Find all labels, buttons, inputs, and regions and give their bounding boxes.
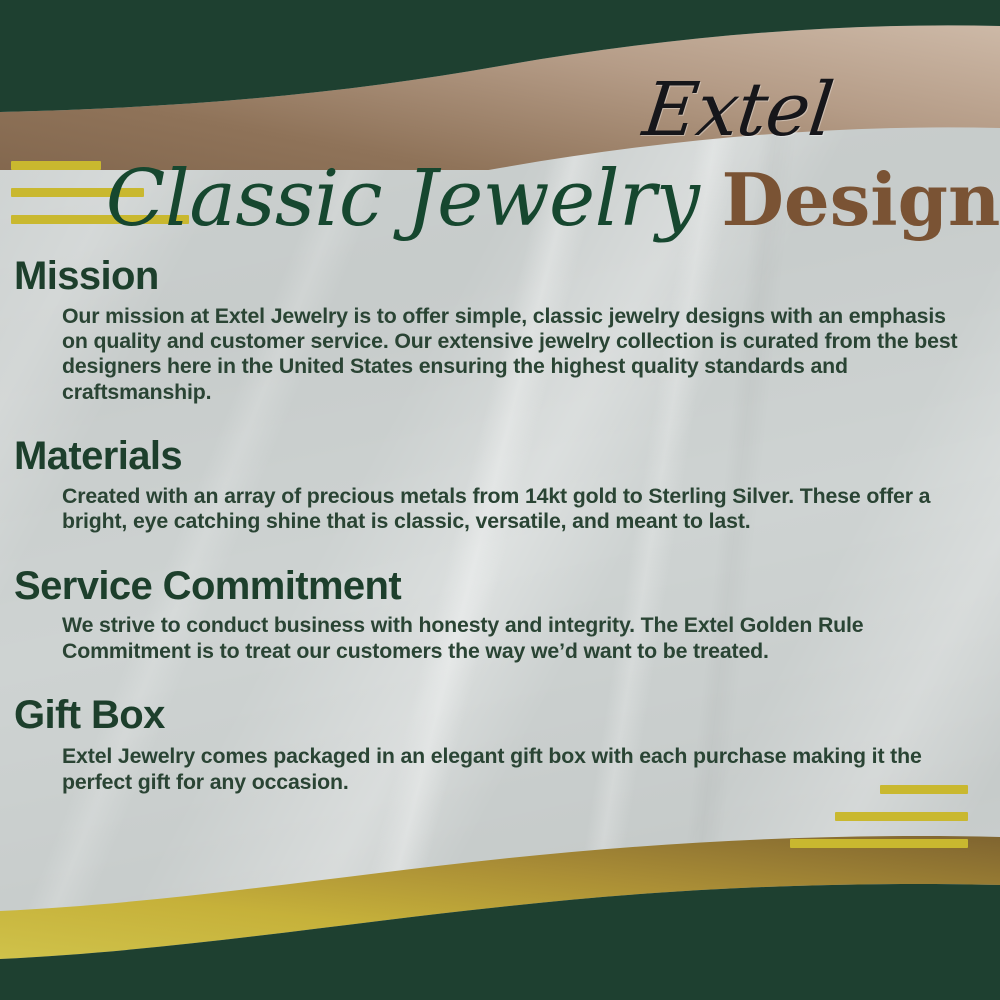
bottom-right-gold-rules <box>790 785 968 866</box>
poster-title: Classic Jewelry Design <box>0 160 1000 254</box>
title-script-part: Classic Jewelry <box>106 160 700 238</box>
section-materials: Materials Created with an array of preci… <box>0 407 1000 534</box>
section-body-materials: Created with an array of precious metals… <box>62 484 966 535</box>
sections-container: Mission Our mission at Extel Jewelry is … <box>0 254 1000 797</box>
gold-rule-5 <box>835 812 968 821</box>
section-body-gift-box: Extel Jewelry comes packaged in an elega… <box>62 743 966 795</box>
brand-wordmark: Extel <box>640 73 837 147</box>
top-wave-decoration <box>0 0 1000 170</box>
gold-rule-6 <box>790 839 968 848</box>
section-heading-materials: Materials <box>14 434 1000 480</box>
section-service-commitment: Service Commitment We strive to conduct … <box>0 537 1000 664</box>
section-heading-gift-box: Gift Box <box>14 693 1000 739</box>
section-mission: Mission Our mission at Extel Jewelry is … <box>0 254 1000 405</box>
section-body-service: We strive to conduct business with hones… <box>62 613 966 664</box>
section-body-mission: Our mission at Extel Jewelry is to offer… <box>62 304 966 406</box>
section-heading-mission: Mission <box>14 254 1000 300</box>
section-gift-box: Gift Box Extel Jewelry comes packaged in… <box>0 666 1000 795</box>
title-serif-part: Design <box>721 164 1000 236</box>
section-heading-service: Service Commitment <box>14 564 1000 610</box>
poster-canvas: Extel Classic Jewelry Design Mission Our… <box>0 0 1000 1000</box>
